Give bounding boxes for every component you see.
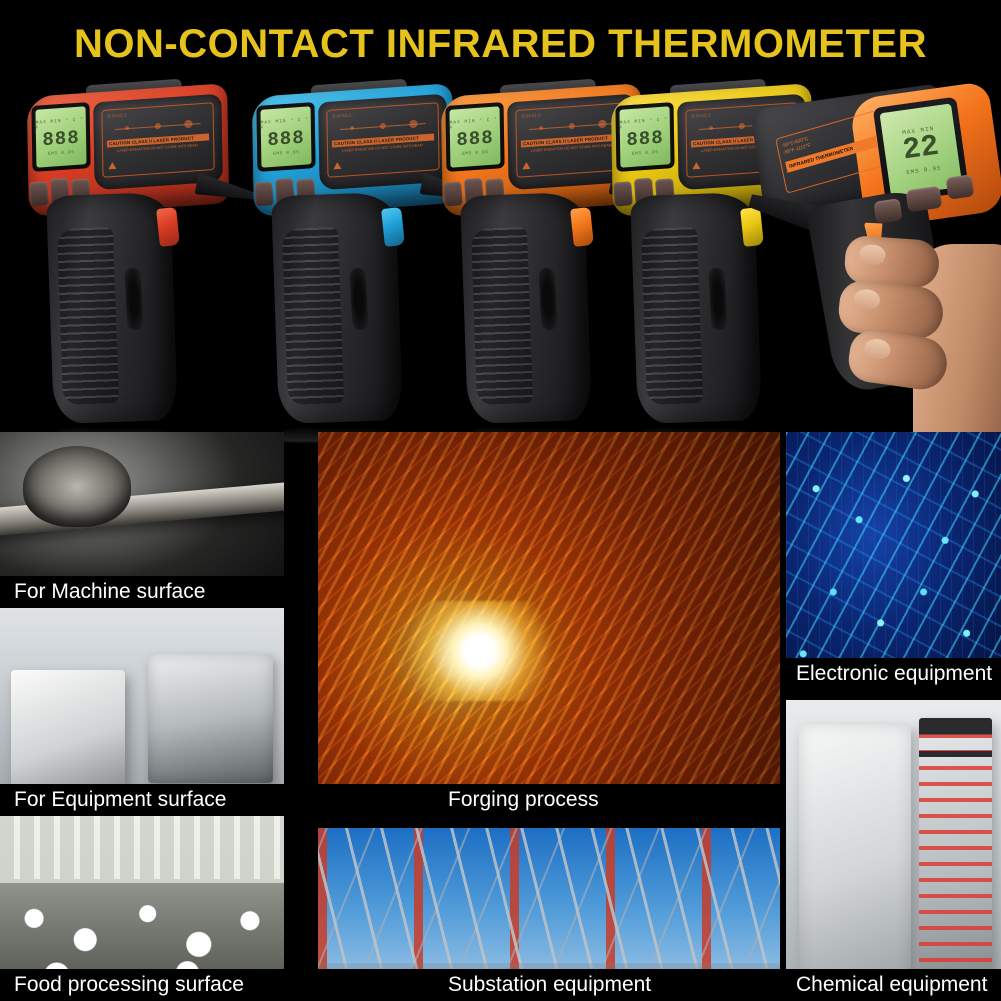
trigger[interactable] [570,207,594,247]
lcd-display: MAX MIN ° C ° F 888 EMS 0.95 [449,106,500,167]
laser-hazard-triangle-icon [108,162,116,170]
page-title: NON-CONTACT INFRARED THERMOMETER [0,22,1001,67]
mode-button[interactable] [613,181,633,206]
cell-substation-equipment[interactable]: Substation equipment [318,828,780,1001]
grip-slot [349,268,368,331]
cell-forging-process[interactable]: Forging process [318,432,780,816]
fingernail [859,244,886,266]
trigger[interactable] [381,207,405,247]
held-backlight-button[interactable] [946,174,975,199]
fingernail [853,288,881,311]
held-unit-toggle-button[interactable] [906,186,943,213]
cell-chemical-equipment[interactable]: Chemical equipment [786,700,1001,1001]
laser-hazard-triangle-icon [333,162,341,170]
mode-button[interactable] [443,181,463,206]
grip-ridges [641,227,703,405]
lcd-display: MAX MIN ° C ° F 888 EMS 0.95 [260,106,311,167]
mode-button[interactable] [254,181,274,206]
grip-ridges [57,227,119,405]
laser-hazard-triangle-icon [522,162,530,170]
lcd-display: MAX MIN ° C ° F 888 EMS 0.95 [35,106,86,167]
grip-slot [124,268,143,331]
trigger[interactable] [156,207,180,247]
laser-warning-label: D:S=12:1 CAUTION CLASS II LASER PRODUCT … [101,102,214,178]
caption-forging-process: Forging process [318,784,780,816]
caption-food-processing: Food processing surface [0,969,284,1001]
grip-slot [708,268,727,331]
mode-button[interactable] [29,181,49,206]
lcd-display: MAX MIN ° C ° F 888 EMS 0.95 [619,106,670,167]
caption-electronic-equipment: Electronic equipment [786,658,1001,690]
caption-machine-surface: For Machine surface [0,576,284,608]
cell-machine-surface[interactable]: For Machine surface [0,432,284,608]
grip-ridges [282,227,344,405]
caption-equipment-surface: For Equipment surface [0,784,284,816]
hero-product-lineup: D:S=12:1 CAUTION CLASS II LASER PRODUCT … [0,78,1001,432]
fingernail [863,337,892,360]
photo-circuit-board [786,432,1001,690]
caption-chemical-equipment: Chemical equipment [786,969,1001,1001]
photo-molten-forging [318,432,780,816]
cell-food-processing[interactable]: Food processing surface [0,816,284,1001]
laser-hazard-triangle-icon [692,162,700,170]
product-infographic: NON-CONTACT INFRARED THERMOMETER D:S=12:… [0,0,1001,1001]
photo-chemical-plant [786,700,1001,1001]
application-photo-grid: For Machine surface For Equipment surfac… [0,432,1001,1001]
grip-ridges [471,227,533,405]
thermometer-red: D:S=12:1 CAUTION CLASS II LASER PRODUCT … [8,82,240,422]
caption-substation-equipment: Substation equipment [318,969,780,1001]
cell-electronic-equipment[interactable]: Electronic equipment [786,432,1001,690]
cell-equipment-surface[interactable]: For Equipment surface [0,608,284,816]
held-mode-button[interactable] [874,198,903,223]
grip-slot [538,268,557,331]
